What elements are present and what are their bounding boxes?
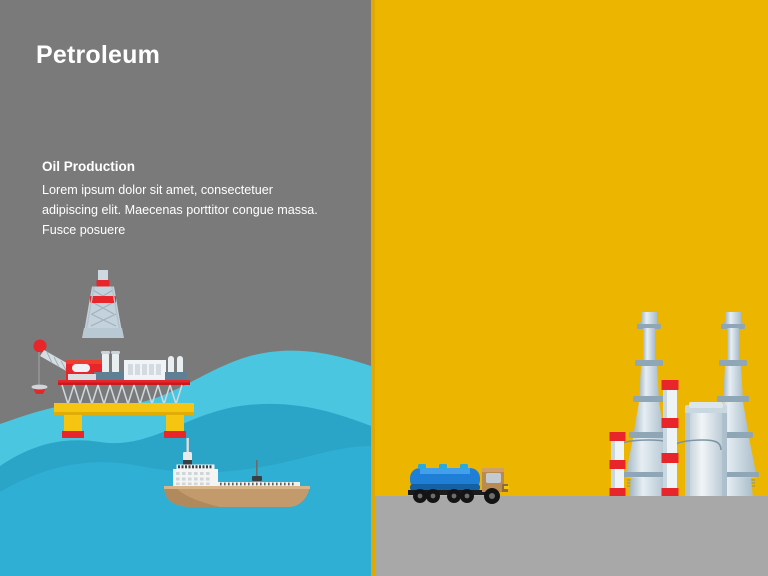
page-title: Petroleum [36,41,160,70]
tanker-truck [406,456,516,506]
panel-divider [371,0,375,576]
ground-plane [371,496,768,576]
left-panel-oil-production: Petroleum Oil Production Lorem ipsum dol… [0,0,371,576]
right-panel-oil-refining: Oil Refining Lorem ipsum dolor sit amet,… [371,0,768,576]
truck-tank [410,464,480,491]
slide-root: Petroleum Oil Production Lorem ipsum dol… [0,0,768,576]
smokestack-thin-middle [662,380,679,500]
offshore-oil-rig [28,268,188,428]
body-oil-production: Lorem ipsum dolor sit amet, consectetuer… [42,180,320,241]
oil-tanker-ship [160,438,310,508]
smokestack-thin-left [610,432,626,500]
storage-tank [685,402,727,499]
refinery-towers [603,300,768,500]
text-block-oil-production: Oil Production Lorem ipsum dolor sit ame… [42,158,320,241]
deck-modules [66,351,187,381]
derrick-tower [82,270,124,338]
crane [32,340,73,395]
truck-cab [482,468,509,492]
heading-oil-production: Oil Production [42,158,320,176]
